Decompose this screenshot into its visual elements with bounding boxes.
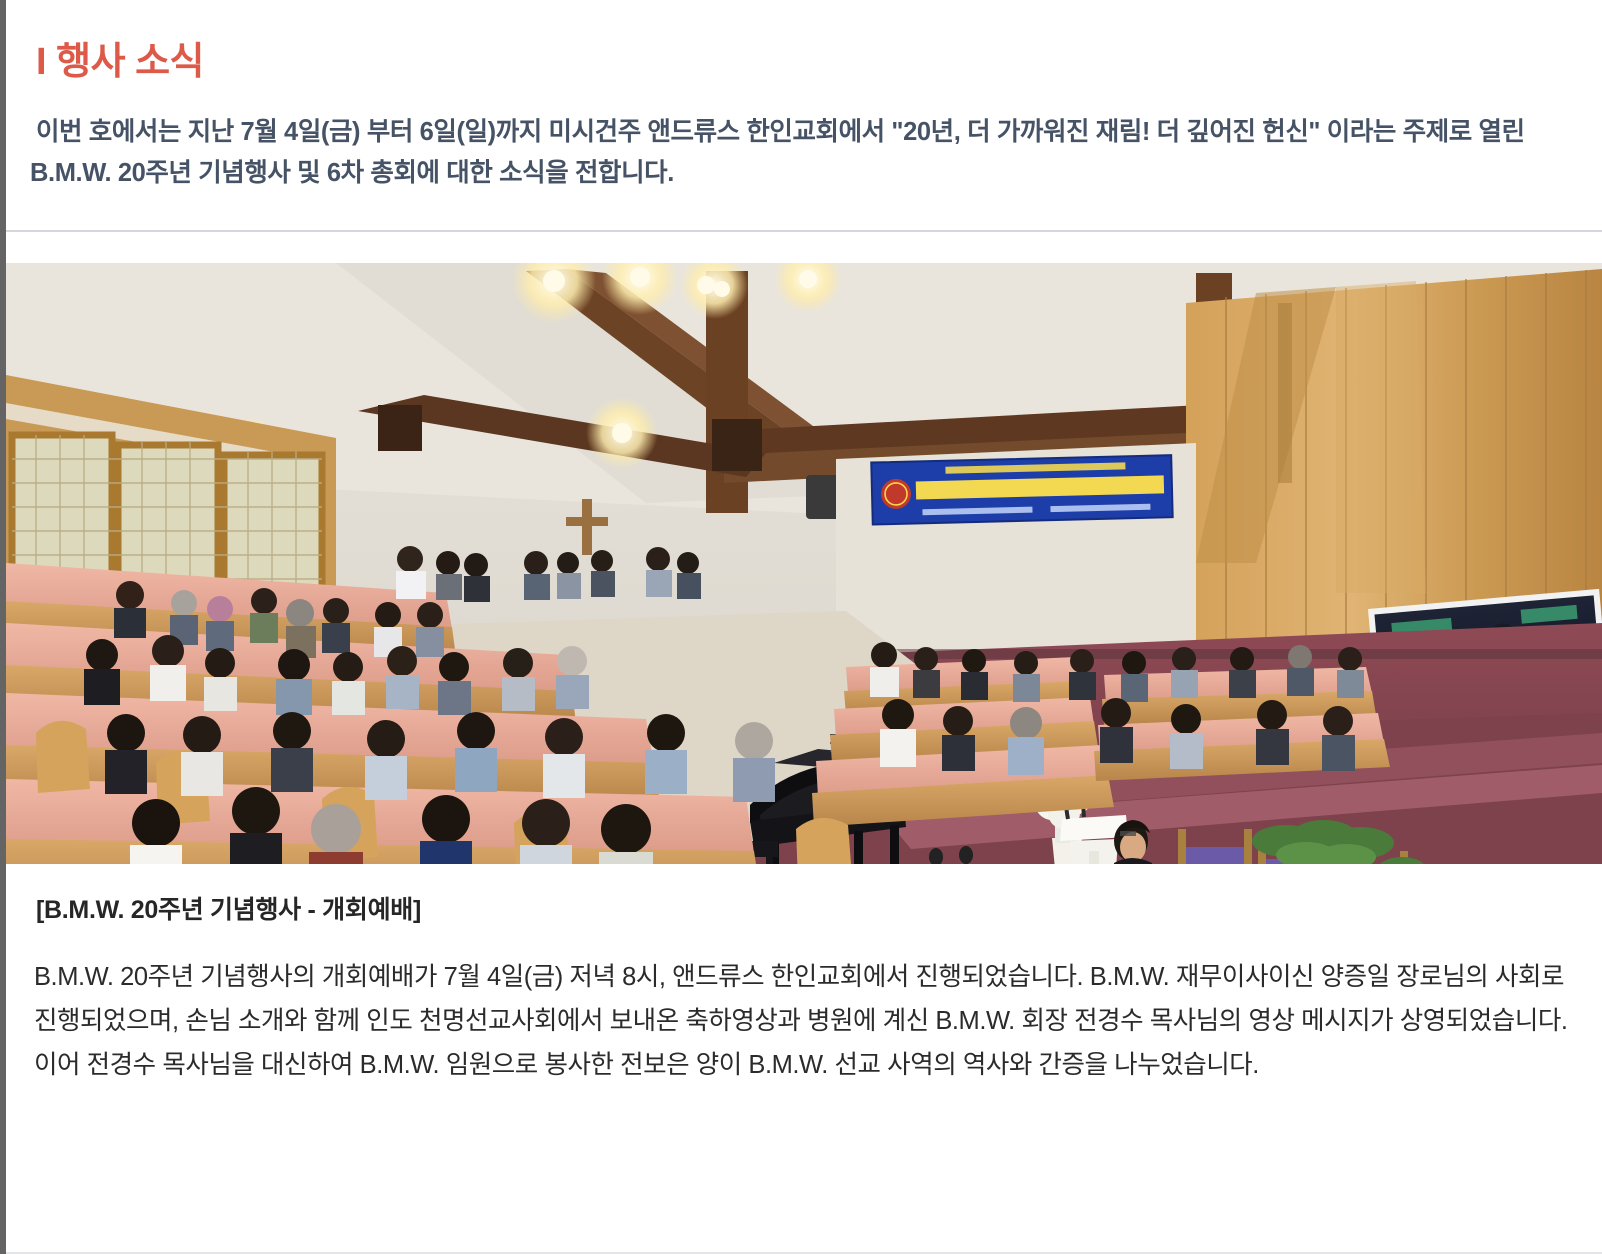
section-divider [6, 230, 1602, 232]
event-photo [6, 263, 1602, 864]
article-body-block: B.M.W. 20주년 기념행사의 개회예배가 7월 4일(금) 저녁 8시, … [6, 926, 1602, 1088]
article-body: B.M.W. 20주년 기념행사의 개회예배가 7월 4일(금) 저녁 8시, … [34, 956, 1578, 1088]
page-title: I 행사 소식 [36, 40, 1602, 86]
section-header: I 행사 소식 [6, 0, 1602, 86]
caption-block: [B.M.W. 20주년 기념행사 - 개회예배] [6, 864, 1602, 926]
intro-block: 이번 호에서는 지난 7월 4일(금) 부터 6일(일)까지 미시건주 앤드류스… [6, 86, 1602, 195]
church-sanctuary-illustration [6, 263, 1602, 864]
photo-caption: [B.M.W. 20주년 기념행사 - 개회예배] [36, 890, 1572, 926]
page-left-rail [0, 0, 6, 1254]
intro-paragraph: 이번 호에서는 지난 7월 4일(금) 부터 6일(일)까지 미시건주 앤드류스… [30, 112, 1578, 195]
page-content: I 행사 소식 이번 호에서는 지난 7월 4일(금) 부터 6일(일)까지 미… [6, 0, 1602, 1254]
